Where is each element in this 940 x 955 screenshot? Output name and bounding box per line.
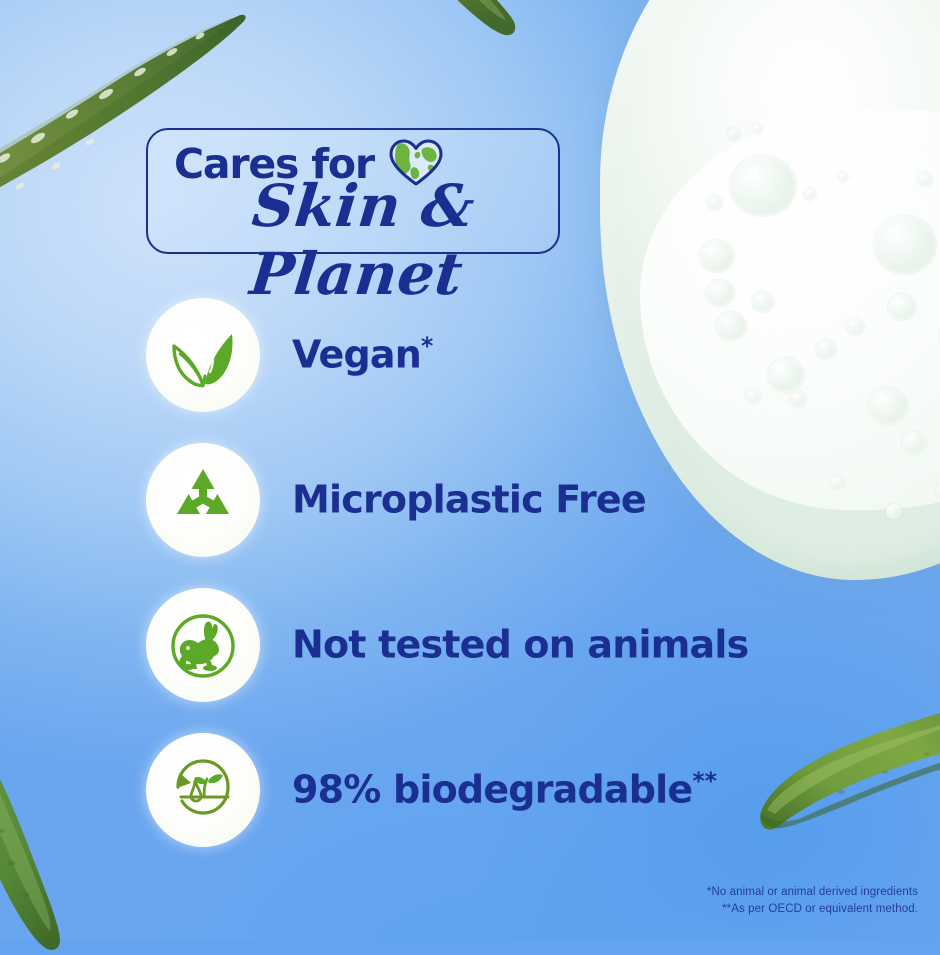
claim-marker: *: [421, 332, 433, 360]
claim-row: Microplastic Free: [0, 427, 940, 572]
footnote-1: *No animal or animal derived ingredients: [707, 884, 918, 901]
biodegradable-icon: [146, 733, 260, 847]
claim-label: Vegan*: [292, 332, 433, 377]
leaves-icon: [146, 298, 260, 412]
claims-list: Vegan* Microplastic Free: [0, 282, 940, 862]
rabbit-icon: [146, 588, 260, 702]
claim-label: Not tested on animals: [292, 622, 748, 667]
claim-marker: **: [692, 767, 717, 795]
claim-text: Vegan: [292, 333, 421, 377]
cares-for-badge: Cares for: [146, 128, 560, 254]
recycle-icon: [146, 443, 260, 557]
footnotes: *No animal or animal derived ingredients…: [707, 884, 918, 919]
claim-text: Microplastic Free: [292, 478, 646, 522]
claim-row: Vegan*: [0, 282, 940, 427]
claim-label: Microplastic Free: [292, 477, 646, 522]
claim-label: 98% biodegradable**: [292, 767, 717, 812]
claim-row: 98% biodegradable**: [0, 717, 940, 862]
claim-text: Not tested on animals: [292, 623, 748, 667]
content-layer: Cares for: [0, 0, 940, 940]
footnote-2: **As per OECD or equivalent method.: [707, 901, 918, 918]
claim-text: 98% biodegradable: [292, 768, 692, 812]
claim-row: Not tested on animals: [0, 572, 940, 717]
